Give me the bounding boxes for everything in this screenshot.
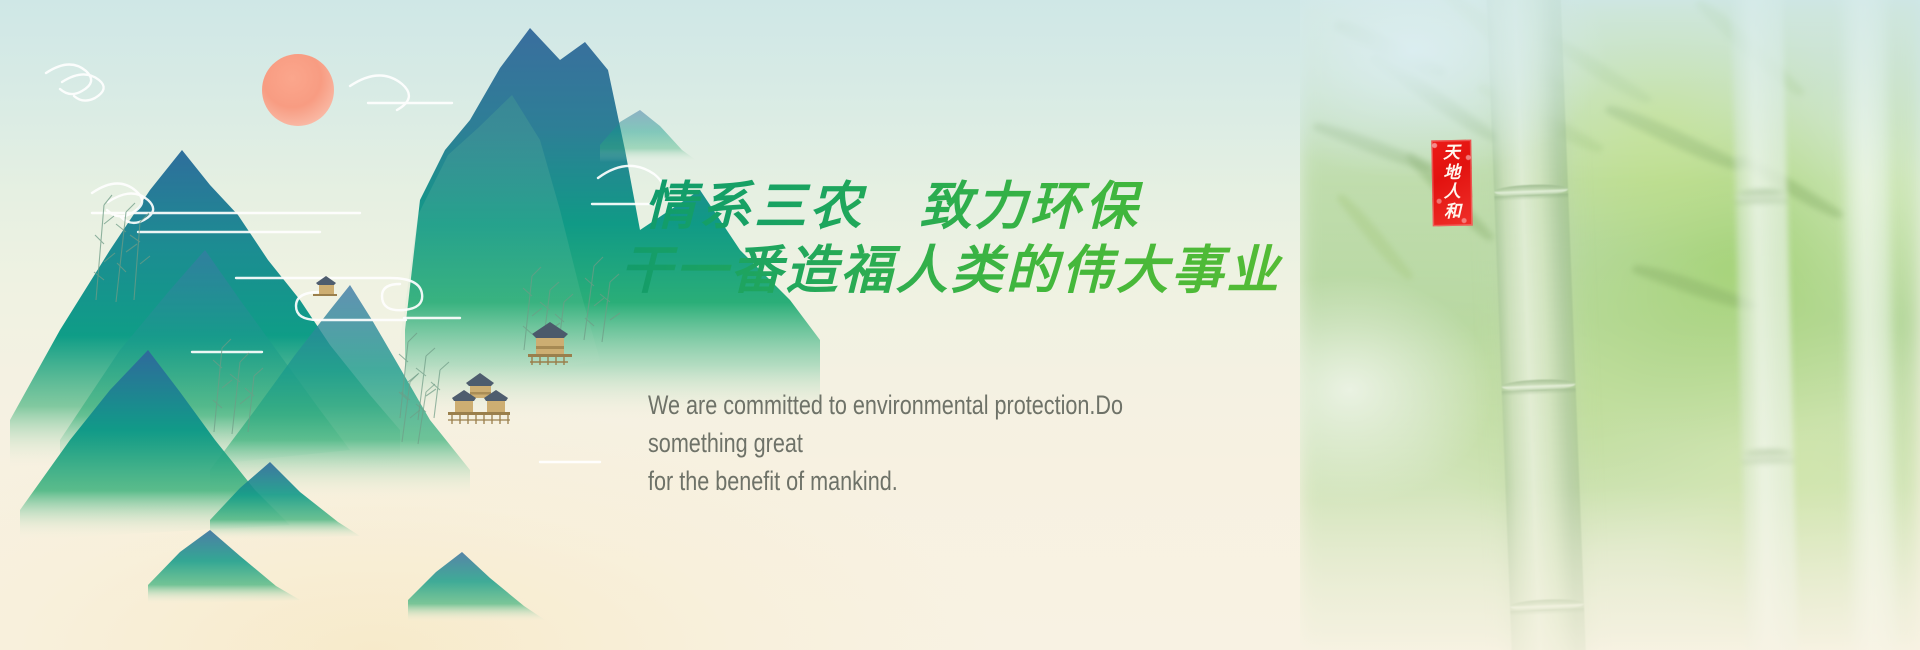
headline-block: 情系三农 致力环保 干一番造福人类的伟大事业: [620, 176, 1340, 304]
seal-stamp: 天 地 人 和: [1431, 140, 1472, 227]
headline-line-1: 情系三农 致力环保: [620, 176, 1340, 238]
bamboo-haze-overlay: [1300, 0, 1920, 650]
seal-char-3: 人: [1444, 183, 1461, 202]
seal-char-1: 天: [1443, 144, 1460, 163]
banner-hero: 情系三农 致力环保 干一番造福人类的伟大事业 We are committed …: [0, 0, 1920, 650]
seal-char-4: 和: [1444, 203, 1461, 222]
mountain-landscape-illustration: [0, 0, 820, 650]
headline-line-2: 干一番造福人类的伟大事业: [620, 238, 1340, 304]
bamboo-grove-photo: [1300, 0, 1920, 650]
seal-char-2: 地: [1443, 163, 1460, 182]
distant-peak-c: [408, 552, 545, 622]
distant-peak-b: [148, 530, 300, 604]
subtitle-text: We are committed to environmental protec…: [648, 386, 1208, 500]
